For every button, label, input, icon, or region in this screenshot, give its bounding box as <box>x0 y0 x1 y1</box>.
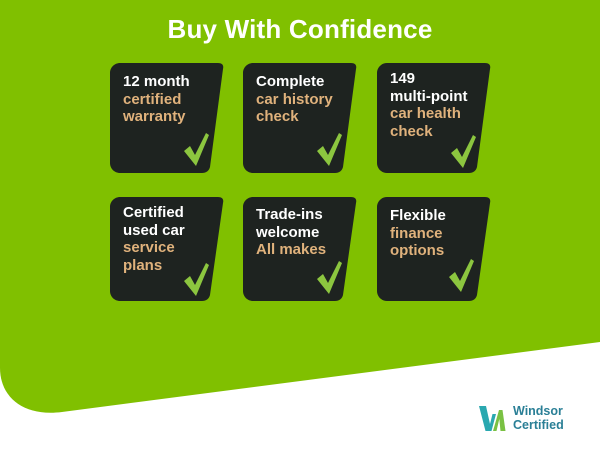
card-background <box>243 197 357 301</box>
logo-text: Windsor Certified <box>513 404 564 432</box>
card-background <box>377 63 491 173</box>
feature-card-certified-used-car-service-plans[interactable]: Certified used car service plans <box>110 197 224 301</box>
logo-line-2: Certified <box>513 418 564 432</box>
logo-line-1: Windsor <box>513 404 564 418</box>
windsor-certified-logo[interactable]: Windsor Certified <box>478 400 590 436</box>
feature-card-149-multi-point-car-health-check[interactable]: 149 multi-point car health check <box>377 63 491 173</box>
windsor-w-icon <box>478 404 508 432</box>
card-background <box>377 197 491 301</box>
card-background <box>110 197 224 301</box>
card-background <box>110 63 224 173</box>
page-title: Buy With Confidence <box>0 14 600 45</box>
feature-card-flexible-finance-options[interactable]: Flexible finance options <box>377 197 491 301</box>
promo-banner: Buy With Confidence 12 month certified w… <box>0 0 600 450</box>
feature-card-12-month-certified-warranty[interactable]: 12 month certified warranty <box>110 63 224 173</box>
feature-card-trade-ins-welcome-all-makes[interactable]: Trade-ins welcome All makes <box>243 197 357 301</box>
card-background <box>243 63 357 173</box>
feature-card-complete-car-history-check[interactable]: Complete car history check <box>243 63 357 173</box>
